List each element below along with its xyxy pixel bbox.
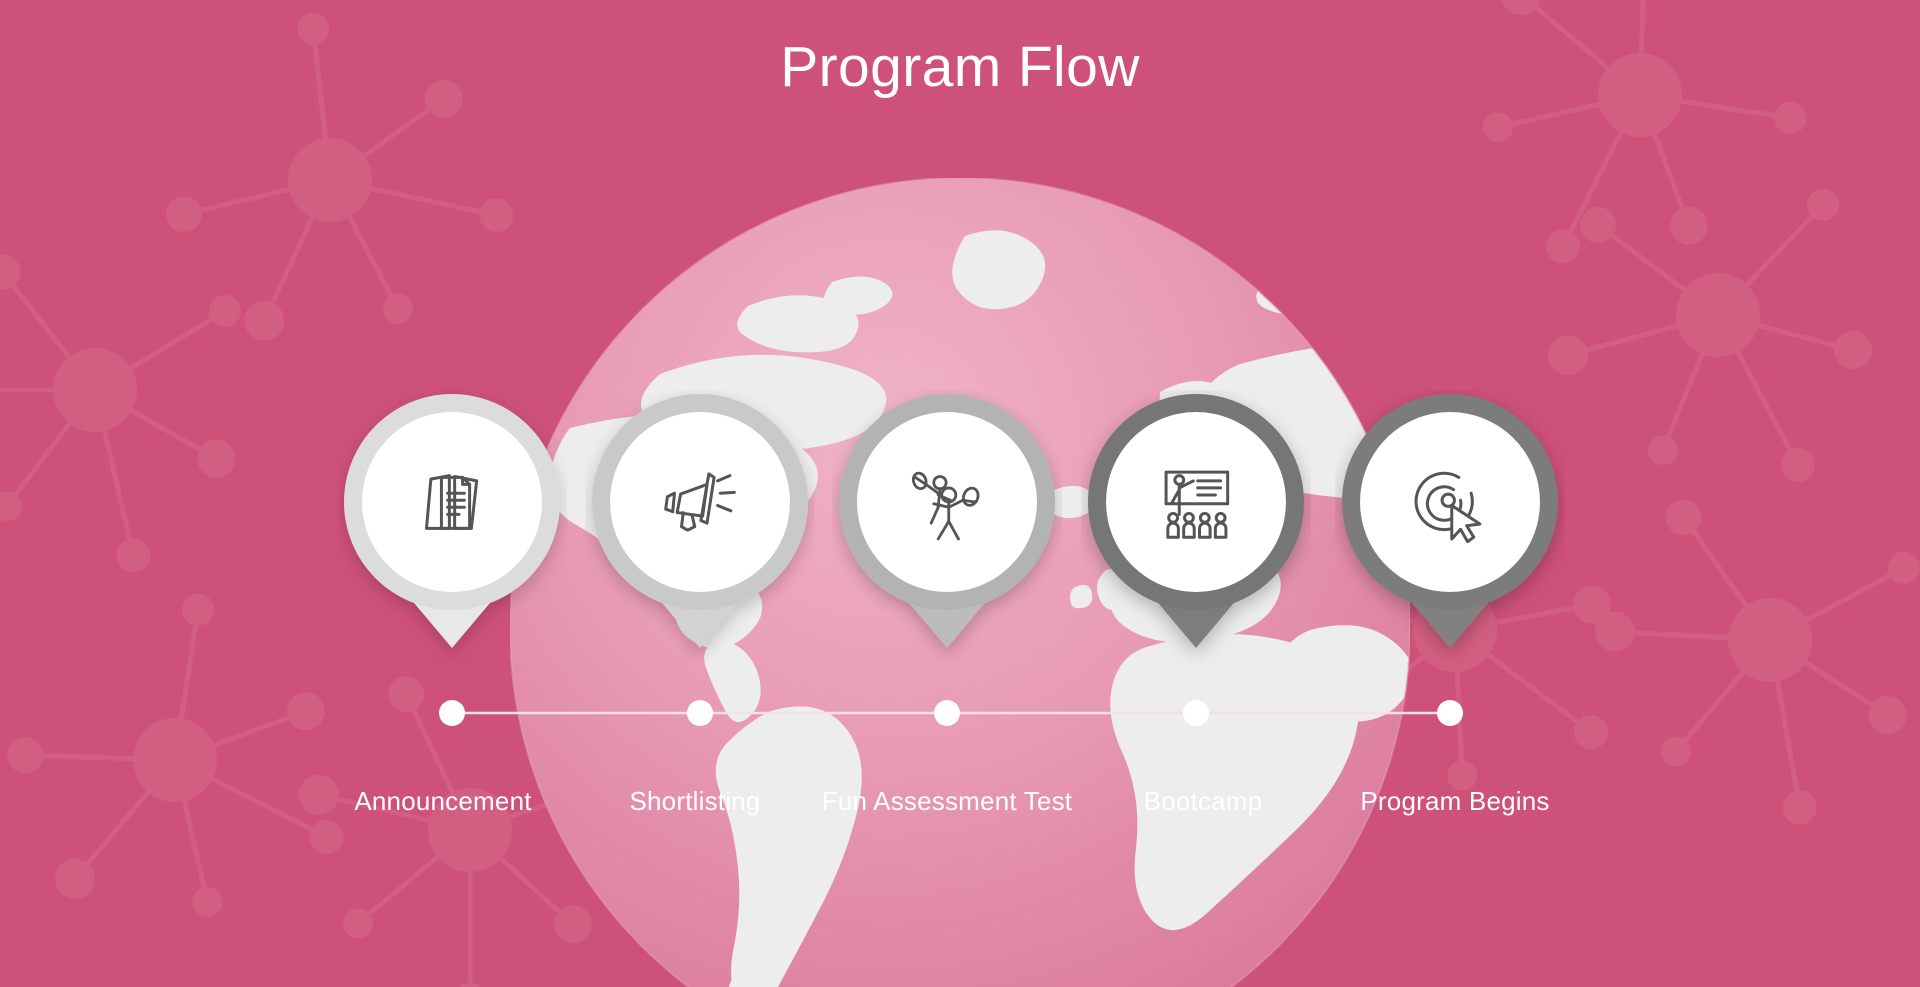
step-label-shortlisting: Shortlisting [629, 786, 760, 817]
timeline-track [0, 690, 1920, 736]
step-pin-shortlisting[interactable] [585, 390, 815, 680]
page-title: Program Flow [0, 36, 1920, 99]
timeline-dot-program-begins[interactable] [1437, 700, 1463, 726]
timeline-dot-announcement[interactable] [439, 700, 465, 726]
timeline-dot-bootcamp[interactable] [1183, 700, 1209, 726]
step-labels: Announcement Shortlisting Fun Assessment… [0, 786, 1920, 836]
step-label-fun-assessment-test: Fun Assessment Test [822, 786, 1072, 817]
step-pin-program-begins[interactable] [1335, 390, 1565, 680]
step-pin-fun-assessment-test[interactable] [832, 390, 1062, 680]
timeline-dot-shortlisting[interactable] [687, 700, 713, 726]
step-label-bootcamp: Bootcamp [1144, 786, 1263, 817]
step-label-announcement: Announcement [354, 786, 531, 817]
step-label-program-begins: Program Begins [1360, 786, 1549, 817]
timeline-dot-fun-assessment-test[interactable] [934, 700, 960, 726]
program-flow-infographic: Program Flow [0, 0, 1920, 987]
step-pin-announcement[interactable] [337, 390, 567, 680]
step-pin-bootcamp[interactable] [1081, 390, 1311, 680]
program-step-pins [0, 390, 1920, 680]
